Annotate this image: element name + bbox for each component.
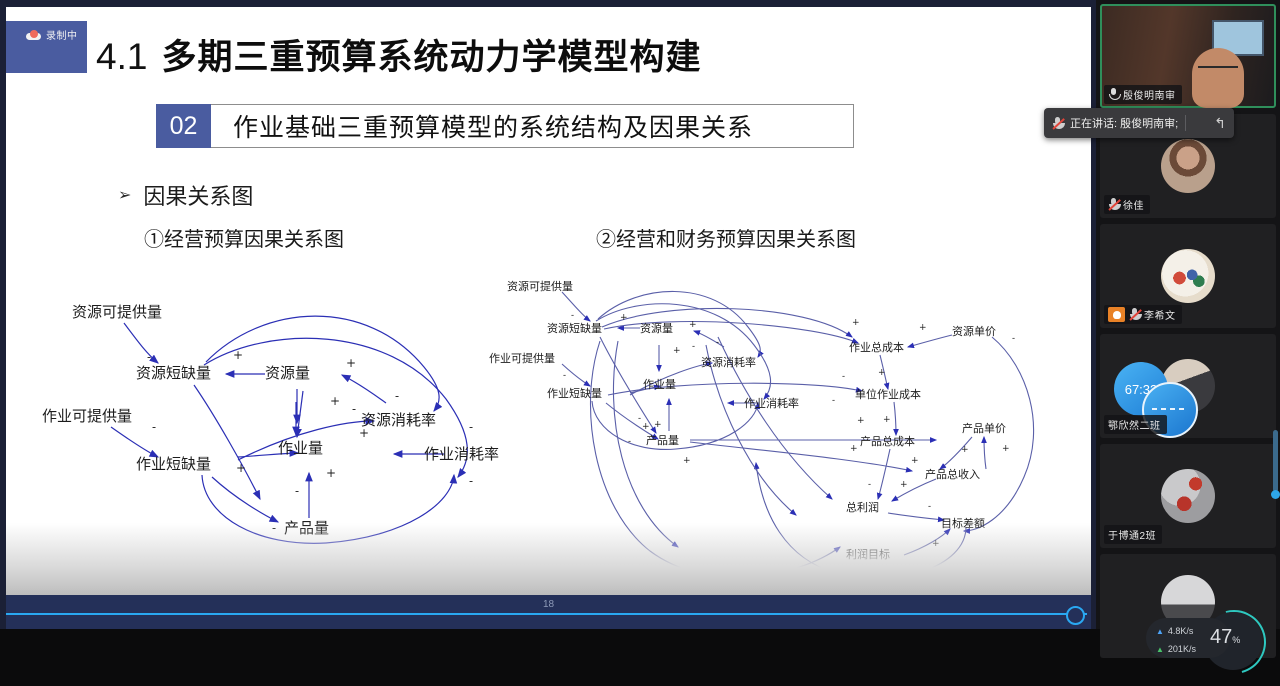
- presentation-slide[interactable]: 录制中 4.1 多期三重预算系统动力学模型构建 02 作业基础三重预算模型的系统…: [6, 7, 1091, 595]
- svg-text:资源可提供量: 资源可提供量: [72, 303, 162, 321]
- cpu-percent: 47%: [1210, 626, 1240, 649]
- participant-tile-4[interactable]: 67:33 鄂欣然二班: [1100, 334, 1276, 438]
- svg-text:-: -: [638, 414, 641, 424]
- upload-speed: ▲ 4.8K/s: [1156, 626, 1193, 636]
- participant-name: 李希文: [1144, 307, 1176, 322]
- svg-text:资源短缺量: 资源短缺量: [547, 321, 602, 335]
- arrow-back-icon[interactable]: ↰: [1214, 115, 1226, 132]
- network-status-widget[interactable]: ▲ 4.8K/s ▲ 201K/s 47%: [1124, 608, 1280, 664]
- svg-text:+: +: [346, 356, 356, 370]
- svg-text:资源量: 资源量: [265, 364, 310, 382]
- person-glasses: [1198, 66, 1238, 76]
- participant-namebar: 鄂欣然二班: [1104, 415, 1167, 434]
- svg-text:-: -: [716, 338, 719, 348]
- svg-text:+: +: [236, 461, 246, 475]
- participant-tile-speaker[interactable]: 殷俊明南审: [1100, 4, 1276, 108]
- svg-text:-: -: [571, 311, 574, 321]
- host-icon: [1108, 307, 1125, 322]
- avatar: [1161, 139, 1215, 193]
- svg-text:+: +: [642, 422, 650, 432]
- svg-text:-: -: [1012, 334, 1015, 344]
- svg-text:-: -: [469, 420, 473, 434]
- participant-name: 殷俊明南审: [1123, 87, 1176, 102]
- svg-text:-: -: [152, 420, 156, 434]
- svg-text:总利润: 总利润: [846, 500, 879, 514]
- speaking-toast-text: 正在讲话: 殷俊明南审;: [1070, 115, 1178, 131]
- svg-text:资源可提供量: 资源可提供量: [507, 279, 573, 293]
- mic-muted-icon: [1052, 117, 1063, 130]
- svg-text:-: -: [842, 372, 845, 382]
- participant-namebar: 于博通2班: [1104, 525, 1162, 544]
- svg-text:单位作业成本: 单位作业成本: [855, 387, 921, 401]
- avatar-art: [1169, 475, 1207, 515]
- svg-text:产品总收入: 产品总收入: [925, 467, 980, 481]
- participant-name: 徐佳: [1123, 197, 1144, 212]
- svg-text:+: +: [883, 415, 891, 425]
- cpu-percent-unit: %: [1232, 635, 1240, 645]
- avatar: [1161, 249, 1215, 303]
- svg-text:资源消耗率: 资源消耗率: [701, 355, 756, 369]
- meeting-window: 录制中 4.1 多期三重预算系统动力学模型构建 02 作业基础三重预算模型的系统…: [0, 0, 1280, 629]
- progress-handle[interactable]: [1066, 606, 1085, 625]
- svg-text:资源消耗率: 资源消耗率: [361, 411, 436, 429]
- svg-text:+: +: [620, 313, 628, 323]
- svg-text:+: +: [233, 348, 243, 362]
- participant-tile-3[interactable]: 李希文: [1100, 224, 1276, 328]
- svg-text:作业总成本: 作业总成本: [849, 340, 904, 354]
- download-speed-value: 201K/s: [1168, 644, 1196, 654]
- page-number: 18: [543, 599, 554, 610]
- svg-text:+: +: [330, 394, 340, 408]
- participant-namebar: 殷俊明南审: [1104, 85, 1182, 104]
- svg-text:-: -: [628, 437, 631, 447]
- svg-text:-: -: [295, 484, 299, 498]
- cpu-percent-value: 47: [1210, 626, 1232, 648]
- svg-text:+: +: [326, 466, 336, 480]
- diagram-left-links: [111, 316, 467, 543]
- progress-track[interactable]: [6, 613, 1087, 615]
- svg-text:-: -: [352, 402, 356, 416]
- mic-muted-icon: [1108, 198, 1119, 211]
- participant-name: 鄂欣然二班: [1108, 417, 1161, 432]
- svg-text:作业量: 作业量: [643, 378, 676, 391]
- participant-name: 于博通2班: [1108, 527, 1156, 542]
- diagram-right-signs: - + + - + - - + + + - - - - + + -: [563, 311, 1015, 549]
- participant-namebar: 徐佳: [1104, 195, 1150, 214]
- svg-text:产品单价: 产品单价: [962, 421, 1006, 435]
- participant-tile-5[interactable]: 于博通2班: [1100, 444, 1276, 548]
- svg-text:产品总成本: 产品总成本: [860, 434, 915, 448]
- svg-text:+: +: [900, 480, 908, 490]
- svg-text:作业量: 作业量: [278, 439, 323, 457]
- svg-text:资源量: 资源量: [640, 321, 673, 335]
- svg-text:作业可提供量: 作业可提供量: [42, 407, 132, 425]
- upload-arrow-icon: ▲: [1156, 627, 1164, 636]
- slide-progress-bar[interactable]: 18: [6, 595, 1091, 629]
- svg-text:+: +: [654, 420, 662, 430]
- svg-text:-: -: [692, 342, 695, 352]
- upload-speed-value: 4.8K/s: [1168, 626, 1194, 636]
- svg-text:+: +: [911, 456, 919, 466]
- svg-text:-: -: [868, 480, 871, 490]
- svg-text:+: +: [850, 444, 858, 454]
- svg-text:-: -: [928, 502, 931, 512]
- svg-text:+: +: [961, 445, 969, 455]
- download-arrow-icon: ▲: [1156, 645, 1164, 654]
- svg-text:作业可提供量: 作业可提供量: [489, 351, 555, 365]
- svg-text:作业消耗率: 作业消耗率: [744, 396, 799, 410]
- download-speed: ▲ 201K/s: [1156, 644, 1196, 654]
- slide-bottom-gradient: [6, 523, 1091, 595]
- svg-text:作业短缺量: 作业短缺量: [547, 386, 602, 400]
- avatar-art: [1171, 265, 1205, 291]
- toast-divider: [1185, 115, 1186, 131]
- svg-text:资源单价: 资源单价: [952, 324, 996, 338]
- svg-text:-: -: [395, 389, 399, 403]
- shared-screen-area: 录制中 4.1 多期三重预算系统动力学模型构建 02 作业基础三重预算模型的系统…: [0, 0, 1096, 629]
- svg-text:+: +: [683, 456, 691, 466]
- rail-scrollbar[interactable]: [1273, 430, 1278, 492]
- mic-muted-icon: [1129, 308, 1140, 321]
- svg-text:-: -: [563, 371, 566, 381]
- participant-namebar: 李希文: [1104, 305, 1182, 324]
- svg-text:+: +: [852, 318, 860, 328]
- svg-text:+: +: [673, 346, 681, 356]
- svg-text:-: -: [469, 474, 473, 488]
- participant-tile-6[interactable]: ▲ 4.8K/s ▲ 201K/s 47%: [1100, 554, 1276, 658]
- svg-text:-: -: [832, 396, 835, 406]
- avatar: [1161, 469, 1215, 523]
- speaking-toast[interactable]: 正在讲话: 殷俊明南审; ↰: [1044, 108, 1234, 138]
- svg-text:+: +: [878, 368, 886, 378]
- causal-loop-diagrams: - + + - + - - + + + - - - - 资源可提供量: [6, 7, 1091, 595]
- svg-text:作业短缺量: 作业短缺量: [136, 455, 211, 473]
- person-head: [1192, 48, 1244, 108]
- svg-text:-: -: [147, 350, 151, 364]
- svg-text:作业消耗率: 作业消耗率: [424, 445, 499, 463]
- svg-text:资源短缺量: 资源短缺量: [136, 364, 211, 382]
- svg-text:+: +: [857, 416, 865, 426]
- diagram-left-nodes: 资源可提供量 资源短缺量 资源量 作业可提供量 作业短缺量 作业量 资源消耗率 …: [42, 303, 499, 537]
- mic-on-icon: [1108, 88, 1119, 101]
- svg-text:产品量: 产品量: [646, 433, 679, 447]
- participant-rail[interactable]: 殷俊明南审 正在讲话: 殷俊明南审; ↰ 徐佳 李: [1096, 0, 1280, 629]
- svg-text:+: +: [1002, 444, 1010, 454]
- svg-text:+: +: [919, 323, 927, 333]
- svg-text:+: +: [689, 320, 697, 330]
